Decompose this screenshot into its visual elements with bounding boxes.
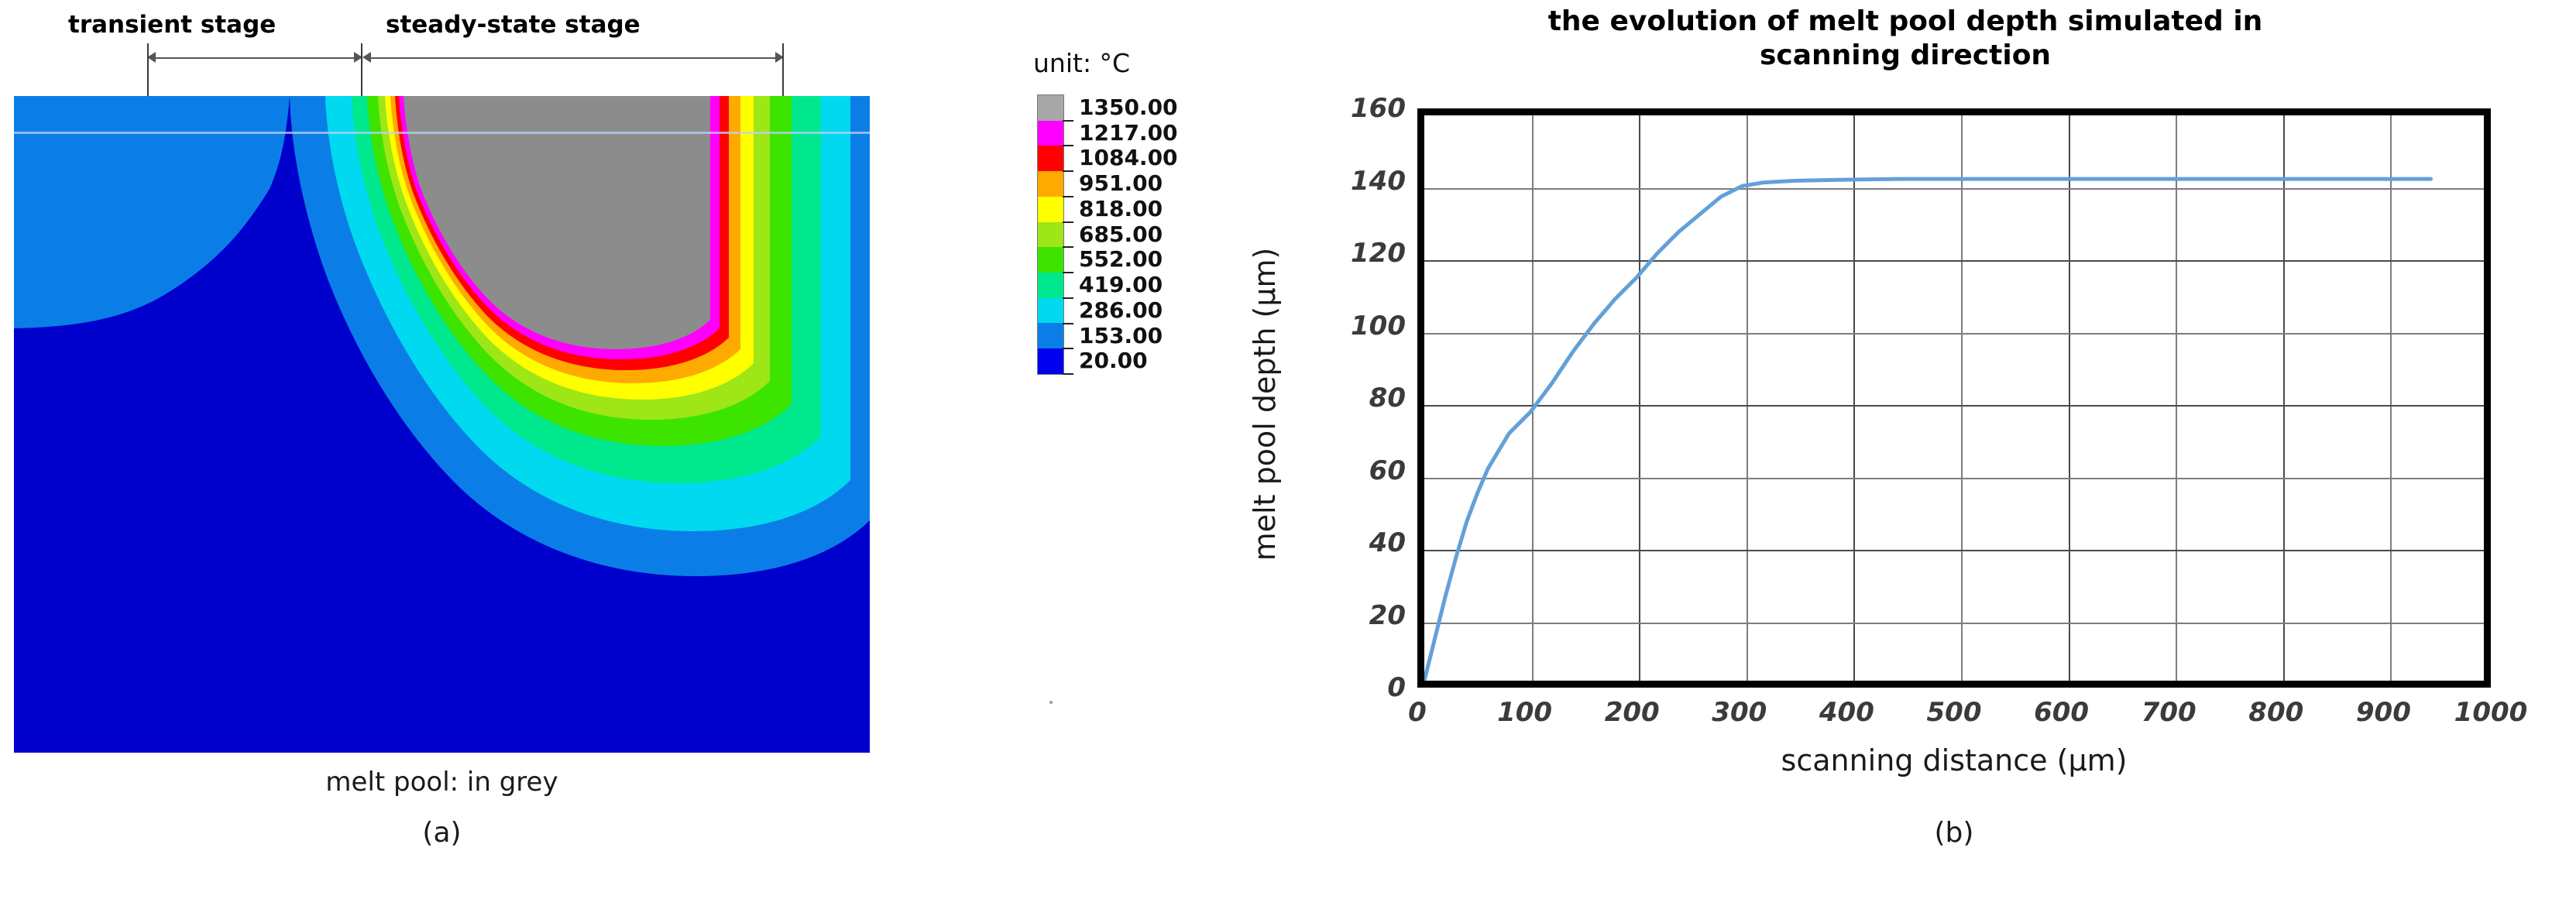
x-axis-tick-label: 0 [1408,697,1427,728]
x-axis-tick-label: 500 [1927,697,1982,728]
colorbar-band [1038,247,1063,273]
x-axis-label: scanning distance (μm) [1417,743,2491,777]
y-axis-tick-label: 40 [1369,527,1406,558]
colorbar-value-label: 818.00 [1079,196,1163,221]
y-axis-tick-label: 60 [1369,455,1406,486]
x-axis-tick-label: 700 [2142,697,2196,728]
depth-curve [1424,115,2484,681]
chart-title-line-2: scanning direction [1313,39,2498,73]
x-axis-tick-label: 600 [2034,697,2089,728]
colorbar-tick [1063,373,1073,375]
surface-reference-line [14,132,870,134]
colorbar-tick [1063,145,1073,146]
chart-title: the evolution of melt pool depth simulat… [1313,5,2498,73]
plot-area [1424,115,2484,681]
colorbar-value-label: 552.00 [1079,246,1163,272]
steady-state-stage-arrow [362,50,784,67]
y-axis-label: melt pool depth (μm) [1248,156,1282,652]
plot-frame [1417,108,2491,688]
temperature-colorbar: unit: °C 1350.001217.001084.00951.00818.… [960,0,1216,906]
x-axis-tick-label: 900 [2356,697,2411,728]
x-axis-tick-label: 200 [1605,697,1660,728]
colorbar-value-label: 1217.00 [1079,120,1178,146]
y-axis-tick-label: 20 [1369,600,1406,631]
colorbar-tick [1063,170,1073,172]
steady-state-stage-label: steady-state stage [386,11,641,39]
colorbar-tick [1063,323,1073,324]
colorbar-value-label: 286.00 [1079,297,1163,323]
panel-a-thermal-contour: transient stage steady-state stage [0,0,953,906]
colorbar-tick [1063,272,1073,273]
colorbar-value-label: 951.00 [1079,170,1163,196]
arrow-shaft [154,57,355,59]
panel-b-caption: (b) [1417,817,2491,849]
colorbar-tick [1063,246,1073,248]
colorbar-tick [1063,196,1073,197]
x-axis-tick-label: 400 [1819,697,1874,728]
colorbar-tick [1063,221,1073,223]
colorbar-strip [1037,94,1064,375]
transient-stage-arrow [147,50,362,67]
colorbar-value-label: 419.00 [1079,272,1163,297]
x-axis-tick-label: 800 [2248,697,2303,728]
y-axis-tick-label: 160 [1351,93,1406,124]
x-axis-tick-label: 300 [1712,697,1767,728]
x-axis-tick-label: 100 [1497,697,1552,728]
colorbar-band [1038,197,1063,222]
colorbar-value-label: 1350.00 [1079,94,1178,120]
x-axis-ticks: 01002003004005006007008009001000 [1417,697,2491,734]
colorbar-band [1038,121,1063,146]
y-axis-tick-label: 100 [1351,311,1406,341]
colorbar-tick [1063,297,1073,299]
panel-a-caption: (a) [14,817,870,849]
colorbar-band [1038,348,1063,374]
colorbar-value-label: 153.00 [1079,323,1163,348]
stage-annotation-labels: transient stage steady-state stage [0,11,782,46]
arrow-shaft [369,57,777,59]
colorbar-band [1038,171,1063,197]
colorbar-band [1038,298,1063,324]
colorbar-band [1038,273,1063,298]
colorbar-band [1038,146,1063,171]
y-axis-ticks: 020406080100120140160 [1290,108,1406,688]
stray-dot-icon [1049,701,1053,704]
y-axis-tick-label: 80 [1369,383,1406,414]
x-axis-tick-label: 1000 [2454,697,2528,728]
colorbar-tick [1063,348,1073,349]
y-axis-tick-label: 120 [1351,238,1406,269]
colorbar-band [1038,323,1063,348]
contour-bands-svg [14,96,870,753]
chart-title-line-1: the evolution of melt pool depth simulat… [1313,5,2498,39]
figure-root: transient stage steady-state stage [0,0,2576,906]
thermal-contour-field [14,96,870,753]
colorbar-unit-label: unit: °C [1033,48,1130,78]
colorbar-band [1038,95,1063,121]
depth-curve-line [1424,179,2431,681]
y-axis-tick-label: 0 [1387,672,1406,703]
melt-pool-note: melt pool: in grey [14,767,870,798]
colorbar-value-label: 685.00 [1079,221,1163,247]
panel-b-line-chart: the evolution of melt pool depth simulat… [1220,0,2576,906]
colorbar-band [1038,222,1063,248]
y-axis-tick-label: 140 [1351,166,1406,197]
colorbar-value-label: 20.00 [1079,348,1148,373]
colorbar-value-label: 1084.00 [1079,145,1178,170]
transient-stage-label: transient stage [68,11,276,39]
colorbar-tick [1063,120,1073,122]
